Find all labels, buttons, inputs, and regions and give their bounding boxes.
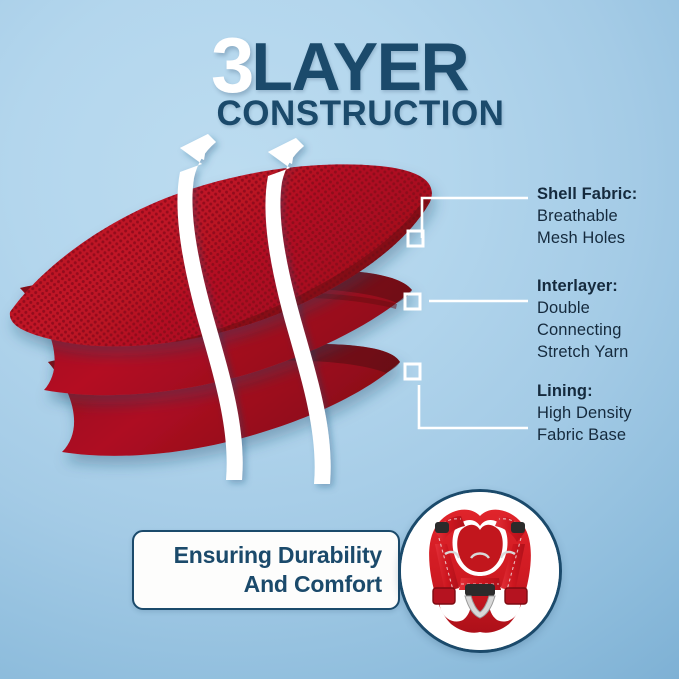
title-main-row: 3 LAYER: [0, 28, 679, 100]
callout-lining-line1: High Density: [537, 403, 632, 425]
callout-interlayer: Interlayer: Double Connecting Stretch Ya…: [537, 276, 628, 364]
callout-lining: Lining: High Density Fabric Base: [537, 381, 632, 447]
infographic-canvas: 3 LAYER CONSTRUCTION: [0, 0, 679, 679]
fabric-layers-illustration: [0, 130, 500, 510]
callout-shell-line2: Mesh Holes: [537, 228, 637, 250]
tagline-line2: And Comfort: [244, 570, 382, 599]
page-title: 3 LAYER CONSTRUCTION: [0, 28, 679, 131]
callout-shell-fabric: Shell Fabric: Breathable Mesh Holes: [537, 184, 637, 250]
callout-shell-heading: Shell Fabric:: [537, 184, 637, 206]
title-layer-count: 3: [211, 30, 251, 102]
red-dog-harness-icon: [401, 492, 559, 650]
product-image-circle: [398, 489, 562, 653]
tagline-banner: Ensuring Durability And Comfort: [132, 530, 400, 610]
callout-shell-line1: Breathable: [537, 206, 637, 228]
title-layer-word: LAYER: [251, 35, 468, 100]
title-subtitle: CONSTRUCTION: [0, 96, 679, 131]
callout-interlayer-heading: Interlayer:: [537, 276, 628, 298]
callout-lining-heading: Lining:: [537, 381, 632, 403]
callout-interlayer-line1: Double: [537, 298, 628, 320]
callout-interlayer-line2: Connecting: [537, 320, 628, 342]
callout-lining-line2: Fabric Base: [537, 425, 632, 447]
callout-interlayer-line3: Stretch Yarn: [537, 342, 628, 364]
tagline-line1: Ensuring Durability: [174, 541, 382, 570]
